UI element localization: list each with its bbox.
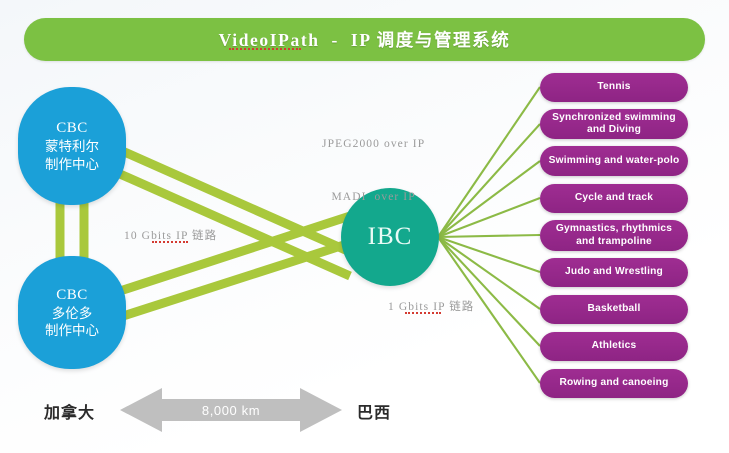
node-code: CBC	[56, 286, 88, 305]
protocol-caption: JPEG2000 over IP MADI over IP	[322, 100, 425, 243]
venue-pill-judo-and-wrestling[interactable]: Judo and Wrestling	[540, 258, 688, 287]
venue-pill-basketball[interactable]: Basketball	[540, 295, 688, 324]
node-cbc-montreal[interactable]: CBC 蒙特利尔 制作中心	[18, 87, 126, 205]
country-label-right: 巴西	[357, 399, 391, 423]
node-city: 蒙特利尔	[45, 138, 99, 155]
venue-label: Gymnastics, rhythmics and trampoline	[546, 223, 682, 247]
node-cbc-toronto[interactable]: CBC 多伦多 制作中心	[18, 256, 126, 369]
diagram-canvas: VideoIPath - IP 调度与管理系统 CBC 蒙特利尔 制作中心 CB…	[0, 0, 729, 453]
venue-pill-cycle-and-track[interactable]: Cycle and track	[540, 184, 688, 213]
country-label-left: 加拿大	[44, 399, 95, 423]
protocol-caption-line2: MADI over IP	[322, 189, 425, 207]
venue-label: Tennis	[597, 81, 630, 93]
spellcheck-underline-downlink	[405, 312, 441, 314]
node-code: CBC	[56, 119, 88, 138]
venue-label: Athletics	[592, 340, 637, 352]
venue-pill-athletics[interactable]: Athletics	[540, 332, 688, 361]
venue-label: Rowing and canoeing	[559, 377, 668, 389]
node-city: 多伦多	[52, 305, 93, 322]
fanout-link-4	[438, 198, 540, 237]
distance-arrow: 8,000 km	[120, 388, 342, 432]
fanout-link-5	[438, 235, 540, 237]
venue-pill-swimming-and-water-polo[interactable]: Swimming and water-polo	[540, 146, 688, 176]
title-banner: VideoIPath - IP 调度与管理系统	[24, 18, 705, 61]
distance-value: 8,000 km	[120, 388, 342, 432]
venue-label: Swimming and water-polo	[549, 155, 680, 167]
spellcheck-underline-uplink	[152, 241, 188, 243]
node-role: 制作中心	[45, 156, 99, 173]
venue-label: Basketball	[588, 303, 641, 315]
venue-pill-gymnastics-rhythmics-and-trampoline[interactable]: Gymnastics, rhythmics and trampoline	[540, 220, 688, 251]
venue-pill-tennis[interactable]: Tennis	[540, 73, 688, 102]
node-role: 制作中心	[45, 322, 99, 339]
page-title: VideoIPath - IP 调度与管理系统	[24, 18, 705, 61]
fanout-link-3	[438, 161, 540, 237]
fanout-link-8	[438, 237, 540, 346]
fanout-link-1	[438, 87, 540, 237]
venue-pill-synchronized-swimming-and-diving[interactable]: Synchronized swimming and Diving	[540, 109, 688, 139]
spellcheck-underline-title	[229, 48, 301, 50]
venue-label: Judo and Wrestling	[565, 266, 663, 278]
protocol-caption-line1: JPEG2000 over IP	[322, 136, 425, 154]
venue-pill-rowing-and-canoeing[interactable]: Rowing and canoeing	[540, 369, 688, 398]
fanout-link-2	[438, 124, 540, 237]
venue-label: Synchronized swimming and Diving	[546, 112, 682, 136]
venue-label: Cycle and track	[575, 192, 653, 204]
venue-fanout-links	[438, 87, 540, 383]
